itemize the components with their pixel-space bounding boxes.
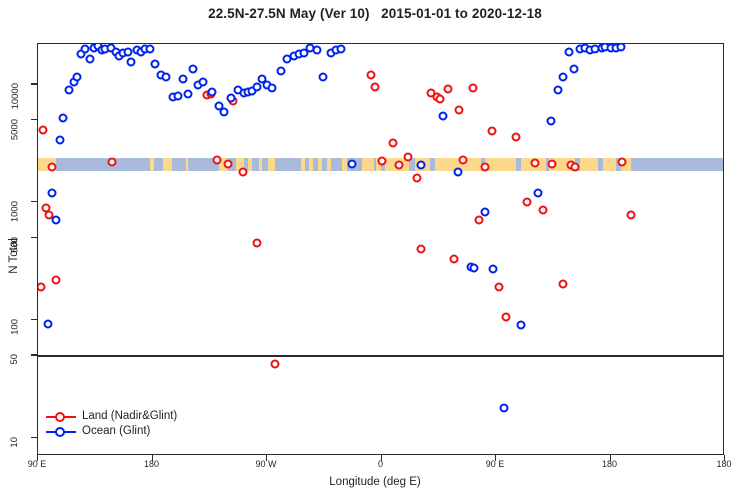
data-point-ocean: [55, 135, 64, 144]
data-point-ocean: [276, 66, 285, 75]
map-land-segment: [301, 158, 305, 171]
data-point-ocean: [569, 64, 578, 73]
legend-item-ocean: Ocean (Glint): [46, 424, 177, 439]
x-tick-label: 90 E: [28, 459, 47, 469]
y-tick-label: 50: [10, 354, 21, 365]
data-point-ocean: [81, 44, 90, 53]
data-point-ocean: [189, 64, 198, 73]
data-point-land: [539, 205, 548, 214]
legend-marker-land-icon: [46, 410, 76, 423]
data-point-ocean: [208, 88, 217, 97]
data-point-land: [371, 82, 380, 91]
data-point-ocean: [533, 188, 542, 197]
data-point-land: [388, 138, 397, 147]
data-point-land: [443, 84, 452, 93]
data-point-ocean: [44, 320, 53, 329]
map-land-segment: [603, 158, 616, 171]
legend: Land (Nadir&Glint)Ocean (Glint): [46, 409, 177, 439]
data-point-ocean: [64, 85, 73, 94]
map-land-segment: [268, 158, 274, 171]
data-point-land: [480, 162, 489, 171]
data-point-ocean: [559, 73, 568, 82]
data-point-ocean: [318, 73, 327, 82]
data-point-land: [475, 216, 484, 225]
data-point-land: [47, 162, 56, 171]
plot-area: [38, 44, 723, 454]
data-point-land: [436, 95, 445, 104]
data-point-ocean: [219, 108, 228, 117]
map-land-segment: [248, 158, 252, 171]
data-point-land: [413, 174, 422, 183]
map-land-segment: [342, 158, 347, 171]
data-point-land: [522, 198, 531, 207]
data-point-land: [626, 210, 635, 219]
data-point-ocean: [438, 111, 447, 120]
data-point-land: [617, 157, 626, 166]
data-point-ocean: [73, 73, 82, 82]
map-land-segment: [259, 158, 262, 171]
data-point-ocean: [453, 168, 462, 177]
data-point-land: [270, 360, 279, 369]
data-point-land: [469, 84, 478, 93]
data-point-land: [559, 280, 568, 289]
data-point-land: [38, 283, 45, 292]
y-tick-label: 1000: [10, 201, 21, 222]
map-land-segment: [580, 158, 598, 171]
data-point-land: [213, 155, 222, 164]
data-point-ocean: [179, 75, 188, 84]
data-point-ocean: [227, 94, 236, 103]
data-point-land: [404, 153, 413, 162]
data-point-land: [39, 125, 48, 134]
map-land-segment: [485, 158, 517, 171]
data-point-land: [238, 168, 247, 177]
data-point-ocean: [173, 91, 182, 100]
x-tick-label: 90 W: [255, 459, 276, 469]
x-tick-label: 180: [716, 459, 731, 469]
map-land-segment: [186, 158, 189, 171]
data-point-land: [223, 160, 232, 169]
data-point-ocean: [47, 188, 56, 197]
legend-label: Land (Nadir&Glint): [82, 409, 177, 424]
data-point-land: [416, 245, 425, 254]
plot-frame: [37, 43, 724, 455]
data-point-land: [51, 275, 60, 284]
data-point-ocean: [312, 46, 321, 55]
data-point-land: [502, 313, 511, 322]
map-land-segment: [163, 158, 172, 171]
data-point-ocean: [51, 216, 60, 225]
data-point-land: [252, 238, 261, 247]
data-point-ocean: [564, 47, 573, 56]
x-tick-label: 90 E: [486, 459, 505, 469]
data-point-land: [570, 162, 579, 171]
data-point-ocean: [616, 44, 625, 51]
data-point-ocean: [336, 44, 345, 53]
data-point-ocean: [268, 84, 277, 93]
data-point-land: [450, 254, 459, 263]
x-tick-label: 0: [378, 459, 383, 469]
data-point-land: [547, 160, 556, 169]
x-axis-title: Longitude (deg E): [0, 476, 750, 488]
data-point-ocean: [126, 57, 135, 66]
data-point-land: [377, 156, 386, 165]
data-point-ocean: [162, 73, 171, 82]
data-point-ocean: [59, 113, 68, 122]
data-point-ocean: [145, 44, 154, 53]
data-point-land: [531, 158, 540, 167]
y-tick-label: 500: [10, 237, 21, 253]
y-tick-label: 100: [10, 319, 21, 335]
data-point-ocean: [124, 47, 133, 56]
data-point-ocean: [489, 265, 498, 274]
data-point-ocean: [499, 403, 508, 412]
map-land-segment: [150, 158, 154, 171]
chart-root: 22.5N-27.5N May (Ver 10) 2015-01-01 to 2…: [0, 0, 750, 500]
data-point-ocean: [199, 77, 208, 86]
y-tick-label: 5000: [10, 119, 21, 140]
map-land-segment: [309, 158, 313, 171]
data-point-land: [107, 157, 116, 166]
data-point-ocean: [184, 89, 193, 98]
y-tick-label: 10000: [10, 83, 21, 109]
map-land-segment: [362, 158, 373, 171]
data-point-land: [488, 127, 497, 136]
map-land-segment: [318, 158, 322, 171]
data-point-ocean: [86, 54, 95, 63]
data-point-ocean: [348, 160, 357, 169]
chart-title: 22.5N-27.5N May (Ver 10) 2015-01-01 to 2…: [0, 6, 750, 21]
data-point-land: [458, 155, 467, 164]
data-point-land: [512, 132, 521, 141]
data-point-ocean: [546, 116, 555, 125]
x-tick-label: 180: [144, 459, 159, 469]
map-land-segment: [327, 158, 331, 171]
y-axis-title: N Total: [8, 216, 20, 296]
data-point-ocean: [470, 264, 479, 273]
legend-label: Ocean (Glint): [82, 424, 150, 439]
data-point-ocean: [151, 59, 160, 68]
data-point-ocean: [517, 321, 526, 330]
data-point-land: [455, 106, 464, 115]
y-tick-label: 10: [10, 437, 21, 448]
data-point-ocean: [416, 161, 425, 170]
data-point-ocean: [480, 208, 489, 217]
x-tick-label: 180: [602, 459, 617, 469]
data-point-land: [367, 71, 376, 80]
data-point-ocean: [554, 86, 563, 95]
data-point-land: [494, 283, 503, 292]
legend-marker-ocean-icon: [46, 425, 76, 438]
reference-line-50: [38, 355, 723, 356]
legend-item-land: Land (Nadir&Glint): [46, 409, 177, 424]
data-point-land: [395, 161, 404, 170]
